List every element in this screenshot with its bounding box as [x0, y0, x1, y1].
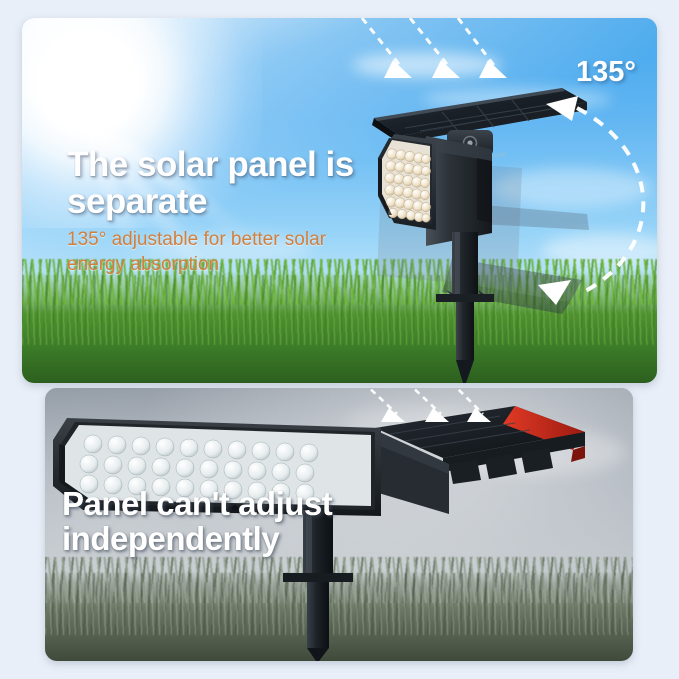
gray-grass: [45, 571, 633, 661]
green-grass: [22, 271, 657, 383]
cloud-wisp: [352, 52, 502, 78]
cloud-wisp: [492, 168, 652, 208]
angle-label: 135°: [576, 56, 636, 89]
comparison-infographic: solar: [0, 0, 679, 679]
bad-headline: Panel can't adjust independently: [62, 487, 382, 557]
good-subtitle: 135° adjustable for better solar energy …: [67, 228, 377, 277]
bad-product-panel: Panel can't adjust independently: [45, 388, 633, 661]
good-product-panel: solar: [22, 18, 657, 383]
cloud-wisp: [422, 88, 612, 110]
good-headline: The solar panel is separate: [67, 146, 397, 220]
cloud-wisp: [345, 406, 495, 440]
